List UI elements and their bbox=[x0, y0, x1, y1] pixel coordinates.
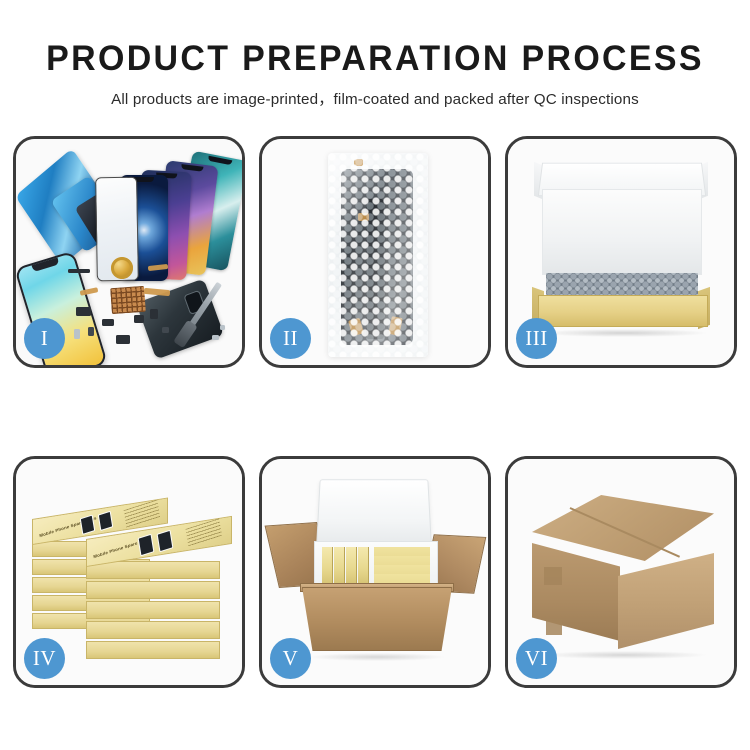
step-numeral-badge-5: V bbox=[270, 638, 311, 679]
process-step-panel-4[interactable]: Mobile Phone Spare Parts Mobile Phone Sp… bbox=[13, 456, 245, 688]
carton-front-wall bbox=[302, 587, 452, 651]
process-step-panel-2[interactable]: II bbox=[259, 136, 491, 368]
tape-patch-upper bbox=[544, 567, 562, 585]
small-part-light bbox=[74, 329, 80, 339]
process-step-panel-3[interactable]: III bbox=[505, 136, 737, 368]
carton-right-face bbox=[618, 553, 714, 649]
gold-coil-component bbox=[111, 257, 133, 279]
yellow-boxes-group bbox=[322, 547, 430, 587]
drop-shadow bbox=[310, 653, 444, 661]
process-step-panel-1[interactable]: I bbox=[13, 136, 245, 368]
chip-component bbox=[150, 309, 158, 319]
plastic-sheen bbox=[328, 153, 428, 357]
box-stack: Mobile Phone Spare Parts Mobile Phone Sp… bbox=[30, 485, 234, 665]
chip-component bbox=[76, 307, 91, 316]
small-part bbox=[88, 327, 94, 336]
small-part bbox=[162, 327, 169, 333]
step-numeral-badge-4: IV bbox=[24, 638, 65, 679]
stacked-box bbox=[86, 581, 220, 599]
small-part-light bbox=[220, 325, 225, 330]
chip-component bbox=[68, 269, 90, 273]
process-step-panel-5[interactable]: V bbox=[259, 456, 491, 688]
drop-shadow bbox=[542, 651, 706, 659]
stacked-box bbox=[86, 641, 220, 659]
yellow-box bbox=[322, 547, 333, 587]
yellow-box bbox=[358, 547, 369, 587]
stacked-box bbox=[86, 601, 220, 619]
product-preparation-page: PRODUCT PREPARATION PROCESS All products… bbox=[0, 0, 750, 750]
yellow-box bbox=[334, 547, 345, 587]
page-subtitle: All products are image-printed，film-coat… bbox=[0, 87, 750, 109]
chip-component bbox=[116, 335, 130, 344]
step-numeral-badge-2: II bbox=[270, 318, 311, 359]
copper-mesh-component bbox=[110, 286, 146, 314]
step-numeral-badge-6: VI bbox=[516, 638, 557, 679]
foam-lid-open bbox=[316, 479, 432, 544]
page-title: PRODUCT PREPARATION PROCESS bbox=[11, 40, 739, 78]
header: PRODUCT PREPARATION PROCESS All products… bbox=[0, 0, 750, 109]
chip-component bbox=[134, 315, 144, 323]
small-part-light bbox=[212, 335, 219, 340]
drop-shadow bbox=[542, 329, 706, 337]
process-steps-grid: I II bbox=[13, 136, 737, 688]
kraft-box-front bbox=[538, 295, 708, 327]
process-step-panel-6[interactable]: VI bbox=[505, 456, 737, 688]
step-numeral-badge-3: III bbox=[516, 318, 557, 359]
step-numeral-badge-1: I bbox=[24, 318, 65, 359]
chip-component bbox=[102, 319, 114, 326]
white-foam-sheet bbox=[542, 189, 702, 275]
tape-patch-lower bbox=[546, 619, 562, 635]
bubble-wrap-bag bbox=[328, 153, 428, 357]
yellow-box bbox=[346, 547, 357, 587]
flex-cable bbox=[144, 288, 170, 296]
stacked-box bbox=[86, 621, 220, 639]
